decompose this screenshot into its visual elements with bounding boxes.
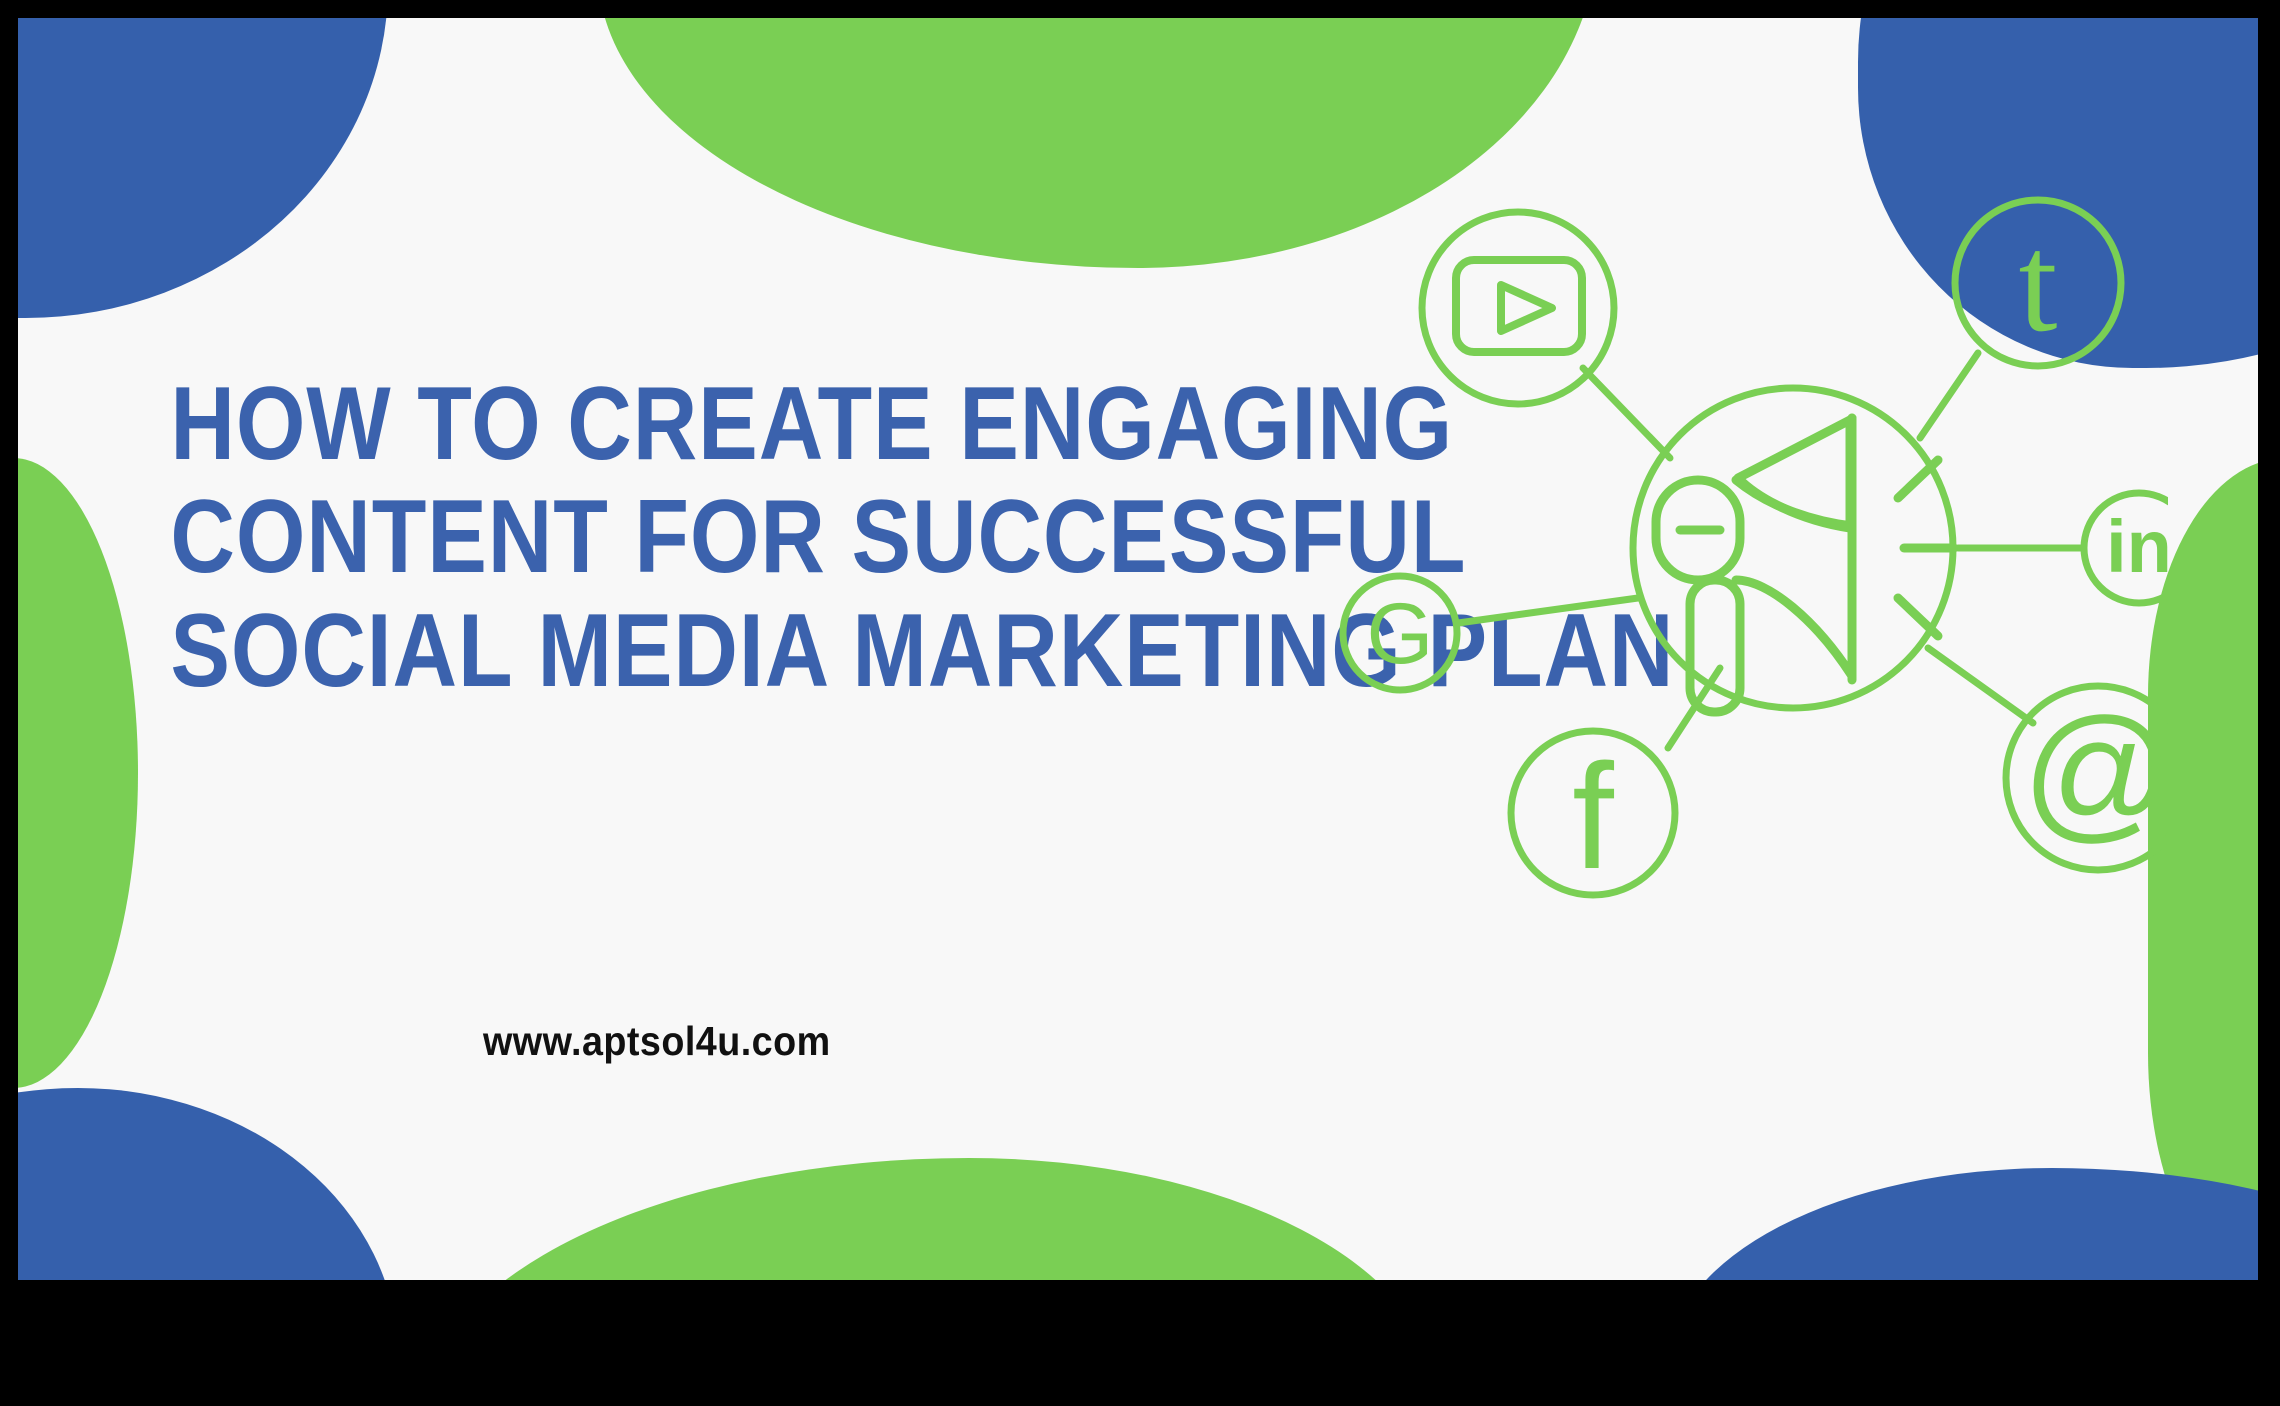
connector-lines: [1458, 353, 2083, 748]
linkedin-icon: in: [2084, 493, 2168, 603]
connector-google: [1458, 598, 1638, 623]
title-line-3: social media marketing plan: [170, 595, 1305, 708]
slide-stage: How to create engaging content for succe…: [0, 0, 2280, 1406]
google-glyph: G: [1367, 586, 1434, 682]
google-icon: G: [1343, 576, 1457, 690]
email-at-icon: @: [2006, 686, 2168, 870]
facebook-icon: f: [1511, 731, 1675, 900]
page-title: How to create engaging content for succe…: [78, 368, 1398, 708]
tumblr-glyph: t: [2019, 206, 2058, 361]
youtube-icon: [1422, 212, 1614, 404]
sound-wave-bottom: [1898, 598, 1938, 636]
title-line-2: content for successful: [170, 481, 1305, 594]
website-url: www.aptsol4u.com: [483, 1018, 831, 1065]
title-line-1: How to create engaging: [170, 368, 1305, 481]
blob-bottom-right-shape: [1668, 1168, 2258, 1280]
megaphone-icon: [1656, 418, 1954, 712]
sound-wave-top: [1898, 460, 1938, 498]
blob-bottom-green-shape: [418, 1158, 1438, 1280]
connector-email: [1928, 648, 2033, 723]
email-glyph: @: [2022, 687, 2168, 855]
tumblr-icon: t: [1955, 200, 2121, 366]
facebook-glyph: f: [1572, 732, 1614, 900]
social-media-network-illustration: t in @ f: [1338, 168, 2168, 958]
connector-youtube: [1583, 368, 1670, 458]
linkedin-glyph: in: [2106, 505, 2168, 588]
slide-canvas: How to create engaging content for succe…: [18, 18, 2258, 1280]
connector-tumblr: [1920, 353, 1978, 438]
blob-bottom-left-shape: [18, 1088, 398, 1280]
blob-top-left-shape: [18, 18, 388, 318]
